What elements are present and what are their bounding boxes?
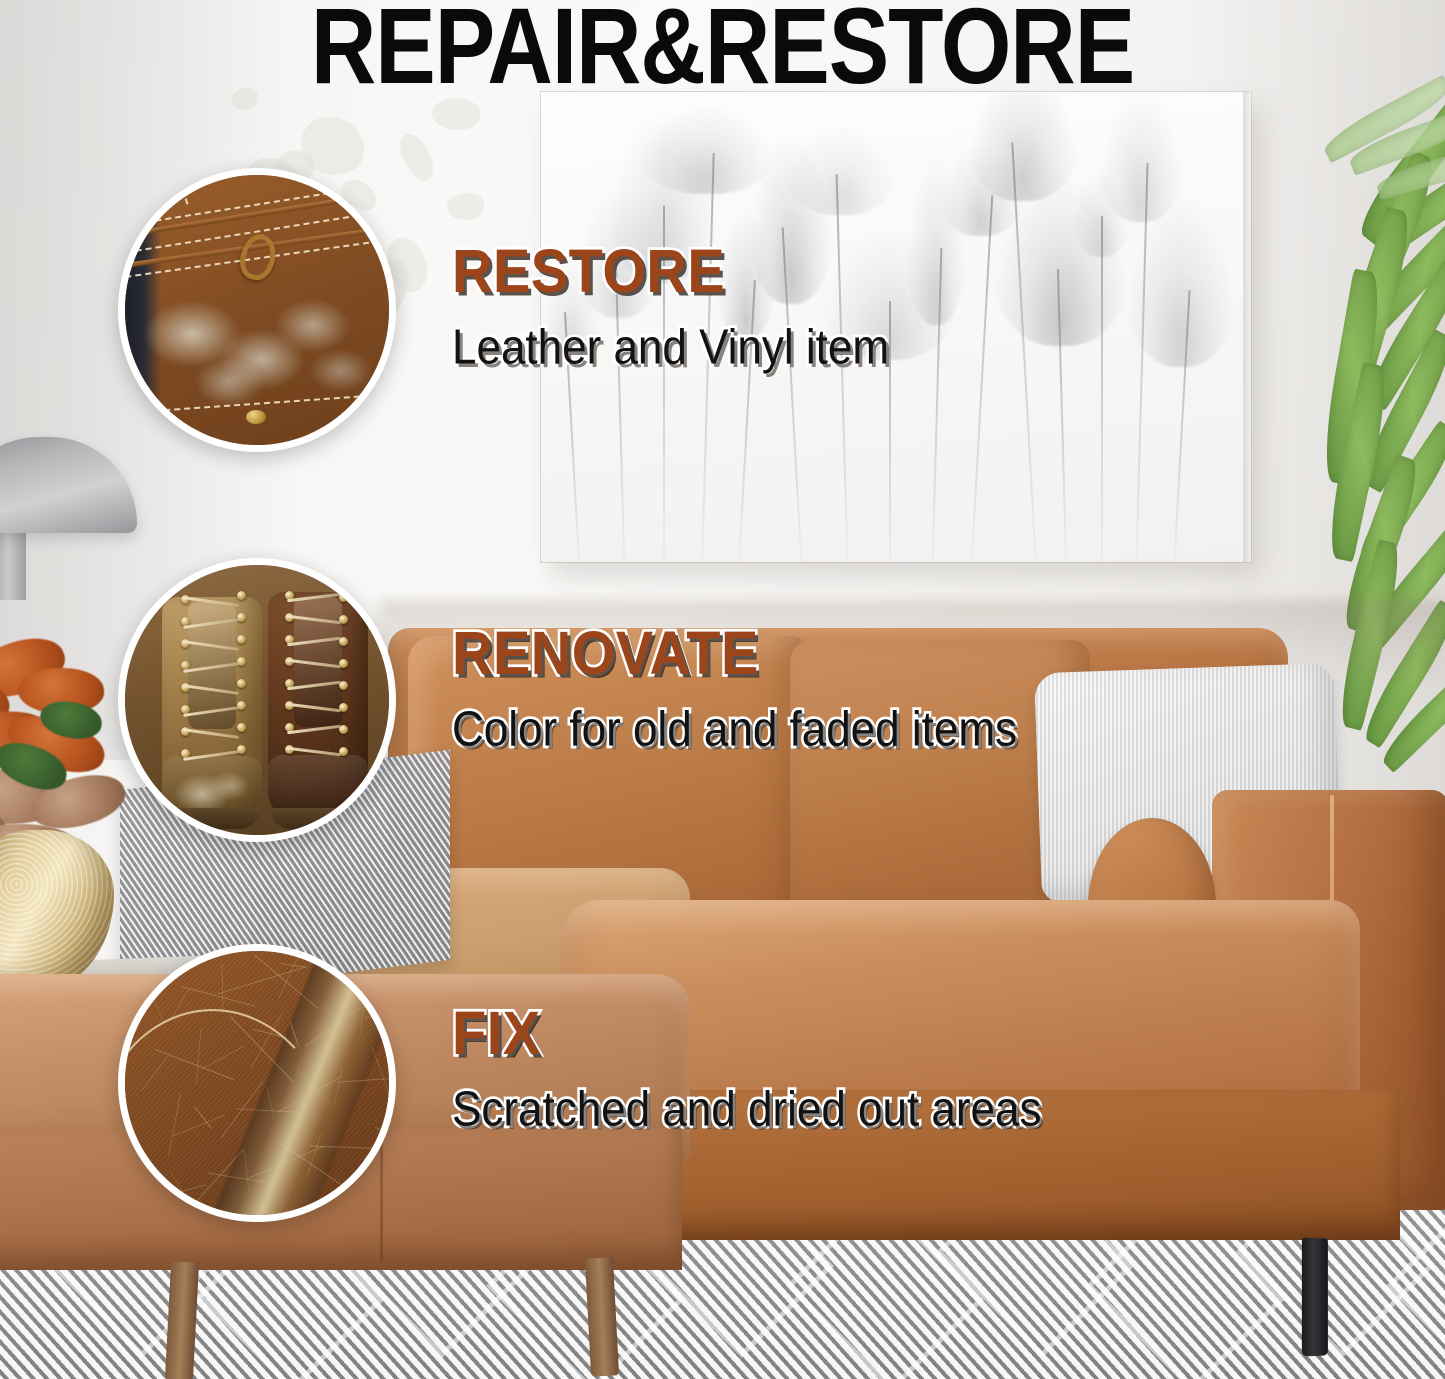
boot-lace bbox=[183, 684, 239, 695]
feature-thumbnail-restore bbox=[118, 168, 396, 452]
scratch-hairline bbox=[169, 1170, 189, 1201]
boot-lace bbox=[183, 750, 239, 761]
boot-lace bbox=[287, 747, 341, 757]
feature-thumbnail-renovate bbox=[118, 558, 396, 842]
scratch-hairline bbox=[181, 986, 256, 1007]
feature-subheading-fix: Scratched and dried out areas bbox=[452, 1082, 1042, 1138]
boot-lace bbox=[287, 725, 341, 735]
scratch-hairline bbox=[244, 1150, 250, 1191]
boot-lace bbox=[287, 703, 341, 713]
art-flower-puff bbox=[785, 125, 897, 215]
boot-lace bbox=[183, 706, 239, 717]
art-stem bbox=[971, 195, 993, 562]
boot-eyelets-and-laces bbox=[125, 565, 389, 835]
sofa-black-leg bbox=[1302, 1238, 1328, 1357]
feature-block-restore: RESTORE Leather and Vinyl item bbox=[452, 238, 889, 373]
scratch-hairline bbox=[145, 984, 165, 1024]
scratch-hairline bbox=[334, 1069, 343, 1106]
feature-subheading-renovate: Color for old and faded items bbox=[452, 702, 1017, 758]
feature-subheading-restore: Leather and Vinyl item bbox=[452, 320, 889, 376]
fine-scratch-lines bbox=[125, 951, 389, 1215]
mold-patches bbox=[141, 272, 373, 412]
boot-lace bbox=[287, 659, 341, 669]
feature-block-renovate: RENOVATE Color for old and faded items bbox=[452, 620, 1017, 755]
boot-lace bbox=[287, 637, 341, 647]
feature-heading-restore: RESTORE bbox=[452, 235, 889, 307]
scratch-hairline bbox=[266, 1086, 274, 1118]
boot-eyelet bbox=[237, 723, 246, 732]
scratch-hairline bbox=[218, 967, 305, 995]
scratch-hairline bbox=[155, 1049, 235, 1080]
feature-block-fix: FIX Scratched and dried out areas bbox=[452, 1000, 1042, 1135]
feature-heading-renovate: RENOVATE bbox=[452, 617, 1017, 689]
boot-eyelet bbox=[237, 635, 246, 644]
scratch-hairline bbox=[170, 989, 189, 1020]
scratch-hairline bbox=[196, 1028, 202, 1085]
scratch-hairline bbox=[202, 1046, 245, 1069]
scratch-hairline bbox=[290, 1023, 299, 1047]
scratch-hairline bbox=[173, 1115, 225, 1137]
boot-lace bbox=[183, 640, 239, 651]
boot-lace bbox=[183, 618, 239, 629]
page-title: REPAIR&RESTORE bbox=[0, 0, 1445, 108]
scratch-hairline bbox=[306, 1007, 361, 1046]
boot-lace bbox=[287, 681, 341, 691]
scratch-hairline bbox=[335, 944, 373, 1006]
product-banner: REPAIR&RESTORE RESTORE Leather and Vinyl… bbox=[0, 0, 1445, 1379]
feature-heading-fix: FIX bbox=[452, 997, 1042, 1069]
scratch-hairline bbox=[236, 1108, 297, 1112]
scratch-hairline bbox=[168, 1093, 181, 1157]
scratch-hairline bbox=[222, 964, 224, 1013]
scratch-hairline bbox=[348, 1192, 375, 1210]
boot-lace bbox=[287, 615, 341, 625]
boot-eyelet bbox=[237, 679, 246, 688]
scratch-hairline bbox=[253, 1029, 286, 1038]
art-stem bbox=[1101, 216, 1103, 562]
scratch-hairline bbox=[142, 1055, 169, 1090]
scratch-hairline bbox=[322, 1006, 353, 1031]
feature-thumbnail-fix bbox=[118, 944, 396, 1222]
scratch-hairline bbox=[337, 1076, 396, 1083]
boot-lace bbox=[287, 593, 341, 603]
scratch-hairline bbox=[372, 1047, 391, 1096]
boot-lace bbox=[183, 662, 239, 673]
boot-lace bbox=[183, 728, 239, 739]
scratch-hairline bbox=[247, 1146, 324, 1179]
scratch-hairline bbox=[360, 1005, 364, 1035]
boot-eyelet bbox=[237, 591, 246, 600]
boot-lace bbox=[183, 596, 239, 607]
scratch-hairline bbox=[230, 1017, 293, 1082]
